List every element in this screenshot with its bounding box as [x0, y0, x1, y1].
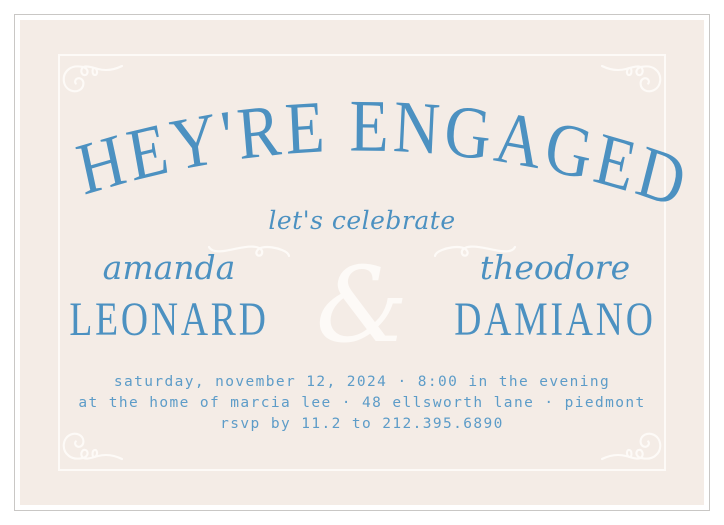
corner-flourish-icon: [598, 44, 676, 100]
partner-left-first-name: amanda: [44, 248, 294, 288]
headline: THEY'RE ENGAGED: [20, 116, 704, 204]
ampersand-ornament: &: [312, 250, 412, 360]
detail-line-date: saturday, november 12, 2024 · 8:00 in th…: [20, 372, 704, 393]
detail-line-location: at the home of marcia lee · 48 ellsworth…: [20, 393, 704, 414]
partner-right-last-name: DAMIANO: [438, 288, 673, 352]
partner-right-first-name: theodore: [430, 248, 680, 288]
couple-names: amanda LEONARD & theodore DAMIANO: [20, 248, 704, 368]
invitation-card: THEY'RE ENGAGED let's celebrate amanda L…: [20, 20, 704, 505]
partner-left: amanda LEONARD: [44, 248, 294, 342]
partner-left-last-name: LEONARD: [52, 288, 287, 352]
corner-flourish-icon: [48, 44, 126, 100]
detail-line-rsvp: rsvp by 11.2 to 212.395.6890: [20, 414, 704, 435]
event-details: saturday, november 12, 2024 · 8:00 in th…: [20, 372, 704, 435]
frame-line-top: [58, 54, 666, 56]
subhead-text: let's celebrate: [268, 206, 455, 235]
invitation-page: THEY'RE ENGAGED let's celebrate amanda L…: [0, 0, 724, 525]
subhead: let's celebrate: [20, 206, 704, 235]
frame-line-bottom: [58, 469, 666, 471]
partner-right: theodore DAMIANO: [430, 248, 680, 342]
